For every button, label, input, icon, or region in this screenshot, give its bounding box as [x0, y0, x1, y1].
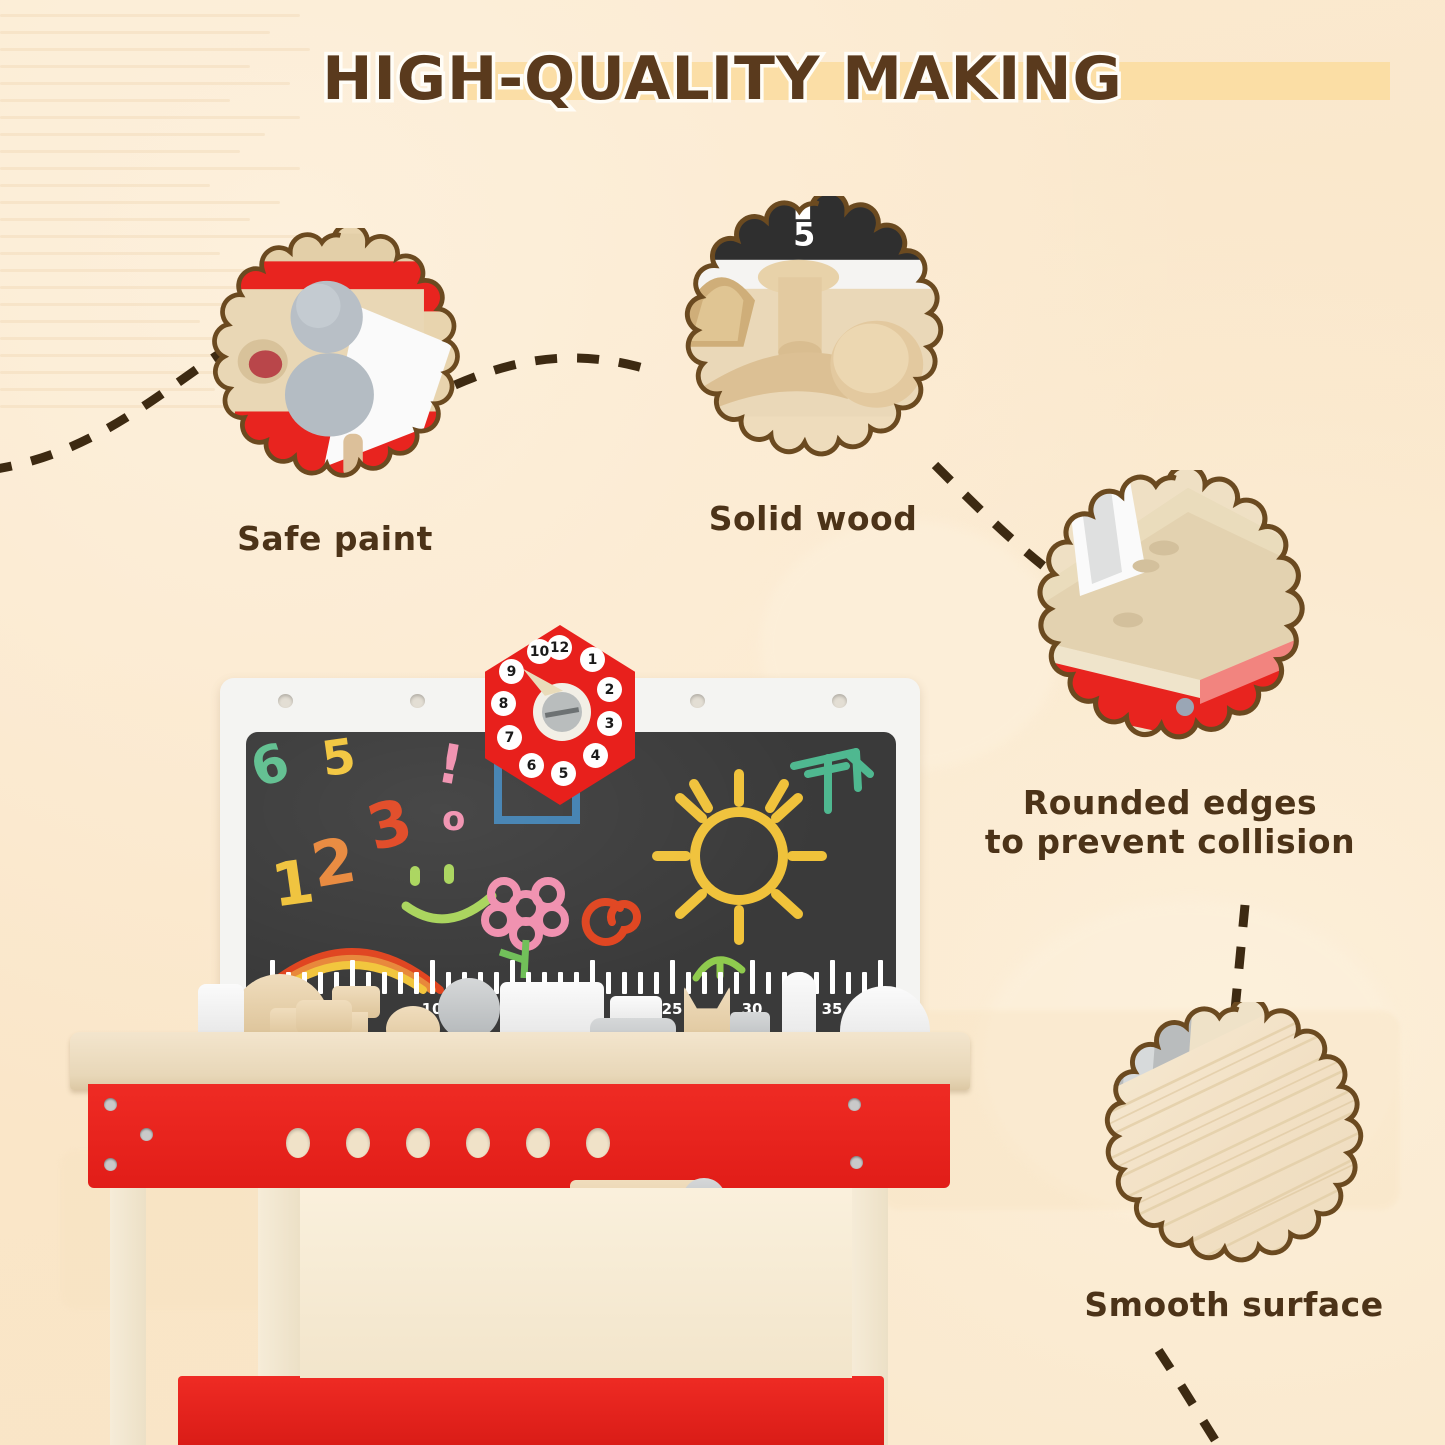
- clock-number: 9: [499, 659, 524, 684]
- callout-safe-paint: Safe paint: [196, 228, 474, 510]
- apron-screw: [848, 1098, 861, 1111]
- page-title: HIGH-QUALITY MAKING: [322, 44, 1122, 114]
- apron-hole: [286, 1128, 310, 1158]
- clock-number: 5: [551, 761, 576, 786]
- ruler-tick: [702, 972, 707, 994]
- bench-leg-left: [110, 1188, 146, 1445]
- ruler-tick: [718, 972, 723, 994]
- callout-solid-wood: 5 Solid wood: [668, 196, 958, 490]
- chalk-doodle-spiral: [566, 882, 658, 974]
- callout-smooth-surface: Smooth surface: [1088, 1002, 1378, 1296]
- bench-apron-panel: [88, 1084, 950, 1188]
- chalk-doodle-6: 6: [246, 736, 295, 797]
- tool-grey-wheel: [438, 978, 500, 1040]
- apron-screw: [850, 1156, 863, 1169]
- ruler-tick: [654, 972, 659, 994]
- ruler-tick: [846, 972, 851, 994]
- callout-smooth-surface-photo: [1088, 1002, 1378, 1292]
- callout-smooth-surface-label: Smooth surface: [1066, 1286, 1402, 1325]
- clock-number: 10: [527, 639, 552, 664]
- callout-solid-wood-photo: 5: [668, 196, 958, 486]
- ruler-tick: [622, 972, 627, 994]
- ruler-tick: [382, 972, 387, 994]
- apron-screw: [140, 1128, 153, 1141]
- ruler-number: 25: [662, 1000, 683, 1018]
- chalk-doodle-o: o: [442, 802, 465, 836]
- ruler-tick: [830, 960, 835, 994]
- chalk-doodle-5: 5: [319, 732, 359, 784]
- ruler-tick: [430, 960, 435, 994]
- ruler-tick: [734, 972, 739, 994]
- clock-number: 7: [497, 725, 522, 750]
- apron-hole: [526, 1128, 550, 1158]
- ruler-tick: [750, 960, 755, 994]
- tool-wood-screw-big: [296, 1000, 352, 1034]
- chalk-doodle-1: 1: [268, 851, 318, 916]
- callout-rounded-edges-photo: [1020, 470, 1320, 770]
- bench-top-surface: [70, 1032, 970, 1090]
- apron-screw: [104, 1158, 117, 1171]
- apron-hole: [346, 1128, 370, 1158]
- ruler-tick: [414, 972, 419, 994]
- chalk-doodle-sun: [634, 756, 844, 956]
- apron-hole: [406, 1128, 430, 1158]
- apron-hole: [586, 1128, 610, 1158]
- apron-hole: [466, 1128, 490, 1158]
- clock-number: 6: [519, 753, 544, 778]
- apron-screw: [104, 1098, 117, 1111]
- ruler-number: 35: [822, 1000, 843, 1018]
- clock-number: 3: [597, 711, 622, 736]
- ruler-tick: [398, 972, 403, 994]
- bench-lower-shelf-rail: [178, 1376, 884, 1445]
- ruler-tick: [638, 972, 643, 994]
- toy-clock: 12 1 2 3 4 5 6 7 8 9 10: [485, 625, 635, 805]
- callout-rounded-edges: Rounded edges to prevent collision: [1020, 470, 1320, 774]
- ruler-tick: [606, 972, 611, 994]
- chalk-doodle-flower: [478, 874, 574, 984]
- chalk-doodle-3: 3: [361, 790, 418, 861]
- callout-rounded-edges-label: Rounded edges to prevent collision: [960, 784, 1380, 862]
- ruler-tick: [766, 972, 771, 994]
- ruler-tick: [318, 972, 323, 994]
- ruler-tick: [686, 972, 691, 994]
- callout-solid-wood-label: Solid wood: [656, 500, 970, 539]
- chalk-doodle-grass: [686, 940, 776, 984]
- ruler-tick: [670, 960, 675, 994]
- clock-number: 8: [491, 691, 516, 716]
- chalk-doodle-exclaim: !: [433, 736, 467, 793]
- chalk-doodle-smiley: [392, 858, 512, 932]
- clock-number: 4: [583, 743, 608, 768]
- infographic-canvas: HIGH-QUALITY MAKING 6 5 ! o 3 2 1: [0, 0, 1445, 1445]
- bench-back-panel: [300, 1188, 852, 1378]
- clock-number: 2: [597, 677, 622, 702]
- svg-text:5: 5: [793, 215, 815, 253]
- chalk-doodle-tree: [786, 744, 886, 824]
- callout-safe-paint-photo: [196, 228, 474, 506]
- ruler-tick: [494, 972, 499, 994]
- clock-number: 1: [580, 647, 605, 672]
- chalk-doodle-2: 2: [307, 829, 360, 898]
- callout-safe-paint-label: Safe paint: [176, 520, 494, 559]
